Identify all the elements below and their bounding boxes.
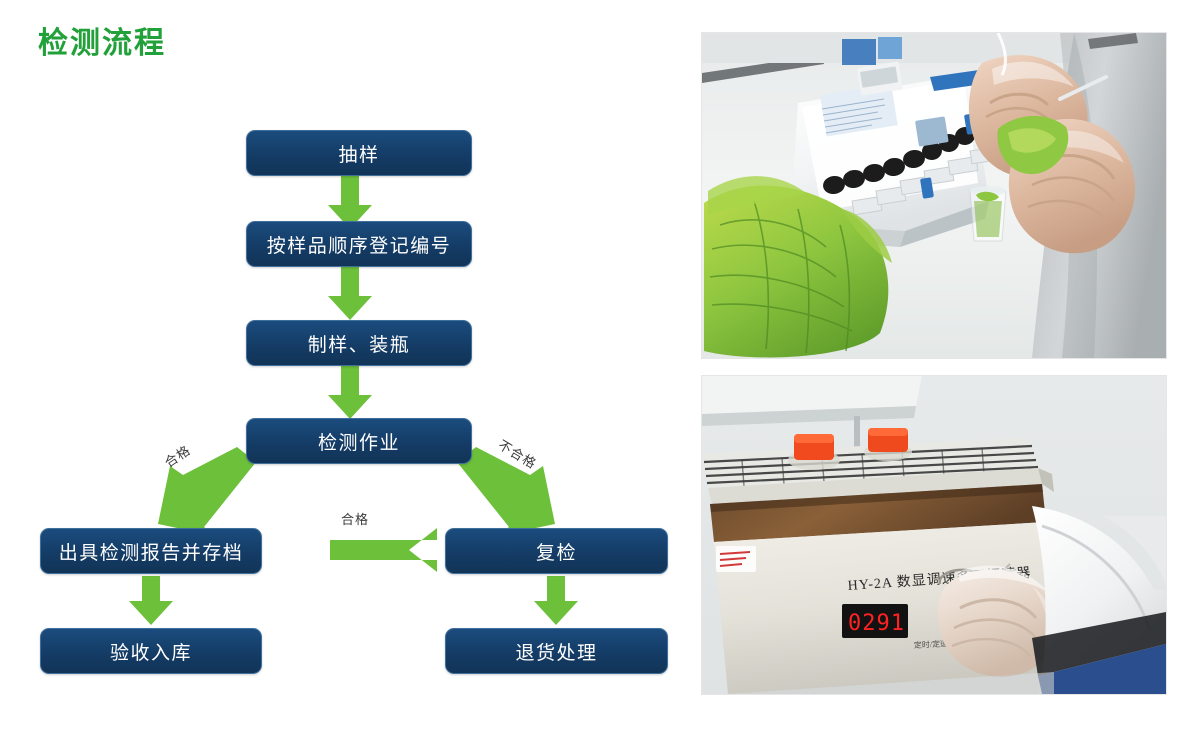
flow-node-label: 复检: [536, 538, 577, 565]
edge-label-pass-recheck: 合格: [341, 509, 369, 528]
detection-process-flowchart: 抽样 按样品顺序登记编号 制样、装瓶 检测作业 出具检测报告并存档 复检 验收入…: [0, 0, 700, 733]
flow-node-test[interactable]: 检测作业: [246, 418, 472, 464]
flowchart-arrows: [0, 0, 700, 733]
shaker-led-display: 0291: [848, 611, 905, 636]
arrow-prepare-to-test: [328, 366, 372, 419]
flow-node-recheck[interactable]: 复检: [445, 528, 668, 574]
flow-node-prepare[interactable]: 制样、装瓶: [246, 320, 472, 366]
arrow-register-to-prepare: [328, 267, 372, 320]
flow-node-sampling[interactable]: 抽样: [246, 130, 472, 176]
arrow-report-to-accept: [129, 576, 173, 625]
flow-node-label: 退货处理: [515, 638, 597, 665]
flow-node-label: 按样品顺序登记编号: [267, 231, 452, 258]
flow-node-label: 检测作业: [318, 428, 400, 455]
sample-preparation-photo: [701, 32, 1167, 359]
flow-node-report[interactable]: 出具检测报告并存档: [40, 528, 262, 574]
flow-node-label: 制样、装瓶: [308, 330, 411, 357]
flow-node-accept[interactable]: 验收入库: [40, 628, 262, 674]
flow-node-label: 抽样: [338, 140, 379, 167]
shaker-photo: HY-2A 数显调速多用振荡器 0291 定时/定速: [701, 375, 1167, 695]
flow-node-label: 验收入库: [110, 638, 192, 665]
arrow-recheck-to-report: [330, 528, 437, 572]
flow-node-register[interactable]: 按样品顺序登记编号: [246, 221, 472, 267]
arrow-test-to-recheck: [457, 447, 555, 536]
flow-node-label: 出具检测报告并存档: [59, 538, 244, 565]
arrow-recheck-to-return: [534, 576, 578, 625]
flow-node-return[interactable]: 退货处理: [445, 628, 668, 674]
